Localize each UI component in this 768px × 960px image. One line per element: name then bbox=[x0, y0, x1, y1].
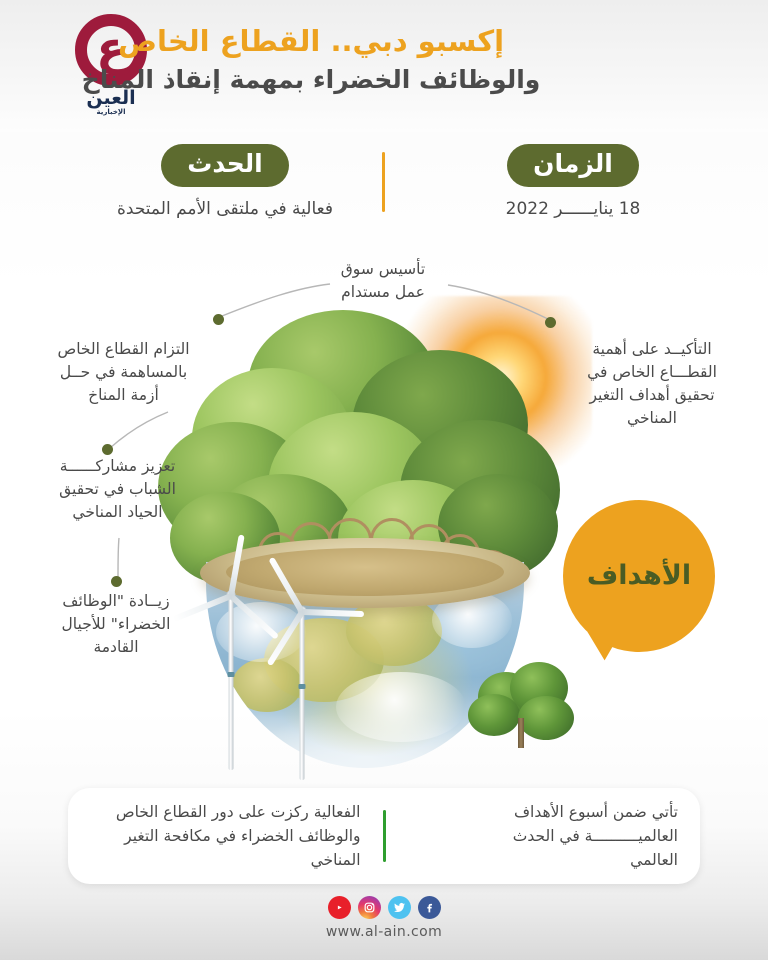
wind-turbine bbox=[262, 580, 342, 780]
bottom-card-divider bbox=[383, 810, 386, 862]
youtube-icon[interactable] bbox=[328, 896, 351, 919]
bottom-summary-card: تأتي ضمن أسبوع الأهدافالعالميــــــــــة… bbox=[68, 788, 700, 884]
logo-subtitle: الإخبارية bbox=[96, 108, 125, 116]
bottom-text-right: تأتي ضمن أسبوع الأهدافالعالميــــــــــة… bbox=[386, 800, 701, 872]
instagram-icon[interactable] bbox=[358, 896, 381, 919]
meta-time-column: الزمان 18 ينايــــــر 2022 bbox=[408, 144, 738, 221]
callout-dot bbox=[102, 444, 113, 455]
turbine-band bbox=[299, 684, 306, 689]
time-badge: الزمان bbox=[507, 144, 639, 187]
goals-bubble: الأهداف bbox=[563, 500, 715, 652]
meta-event-column: الحدث فعالية في ملتقى الأمم المتحدة bbox=[60, 144, 390, 221]
facebook-icon[interactable] bbox=[418, 896, 441, 919]
page-subtitle: والوظائف الخضراء بمهمة إنقاذ المناخ bbox=[24, 62, 598, 98]
callout-dot bbox=[111, 576, 122, 587]
callout-right: التأكيــد على أهميةالقطـــاع الخاص فيتحق… bbox=[552, 338, 752, 430]
callout-left-third: زيــادة "الوظائفالخضراء" للأجيالالقادمة bbox=[16, 590, 216, 659]
title-block: إكسبو دبي.. القطاع الخاص والوظائف الخضرا… bbox=[24, 22, 598, 98]
turbine-mast bbox=[229, 594, 234, 770]
turbine-blade bbox=[302, 609, 364, 617]
small-canopy bbox=[468, 694, 520, 736]
event-text: فعالية في ملتقى الأمم المتحدة bbox=[60, 197, 390, 221]
turbine-band bbox=[228, 672, 235, 677]
bottom-text-left: الفعالية ركزت على دور القطاع الخاصوالوظا… bbox=[68, 800, 383, 872]
turbine-mast bbox=[300, 612, 305, 780]
social-links-row bbox=[328, 896, 441, 919]
callout-left-second: تعزيز مشاركــــــةالشباب في تحقيقالحياد … bbox=[10, 455, 225, 524]
small-tree-trunk bbox=[518, 718, 524, 748]
infographic-page: ع العين الإخبارية إكسبو دبي.. القطاع الخ… bbox=[0, 0, 768, 960]
site-url[interactable]: www.al-ain.com bbox=[326, 924, 442, 940]
small-canopy bbox=[518, 696, 574, 740]
callout-dot bbox=[213, 314, 224, 325]
event-badge: الحدث bbox=[161, 144, 289, 187]
callout-dot bbox=[545, 317, 556, 328]
small-tree bbox=[468, 658, 576, 750]
footer: www.al-ain.com bbox=[0, 896, 768, 960]
time-text: 18 ينايــــــر 2022 bbox=[408, 197, 738, 221]
twitter-icon[interactable] bbox=[388, 896, 411, 919]
callout-left-first: التزام القطاع الخاصبالمساهمة في حــلأزمة… bbox=[16, 338, 231, 407]
callout-top: تأسيس سوقعمل مستدام bbox=[288, 258, 478, 304]
page-title: إكسبو دبي.. القطاع الخاص bbox=[24, 22, 598, 60]
goals-label: الأهداف bbox=[587, 560, 691, 592]
meta-divider bbox=[382, 152, 385, 212]
header: ع العين الإخبارية إكسبو دبي.. القطاع الخ… bbox=[0, 0, 768, 132]
cloud bbox=[336, 672, 466, 742]
